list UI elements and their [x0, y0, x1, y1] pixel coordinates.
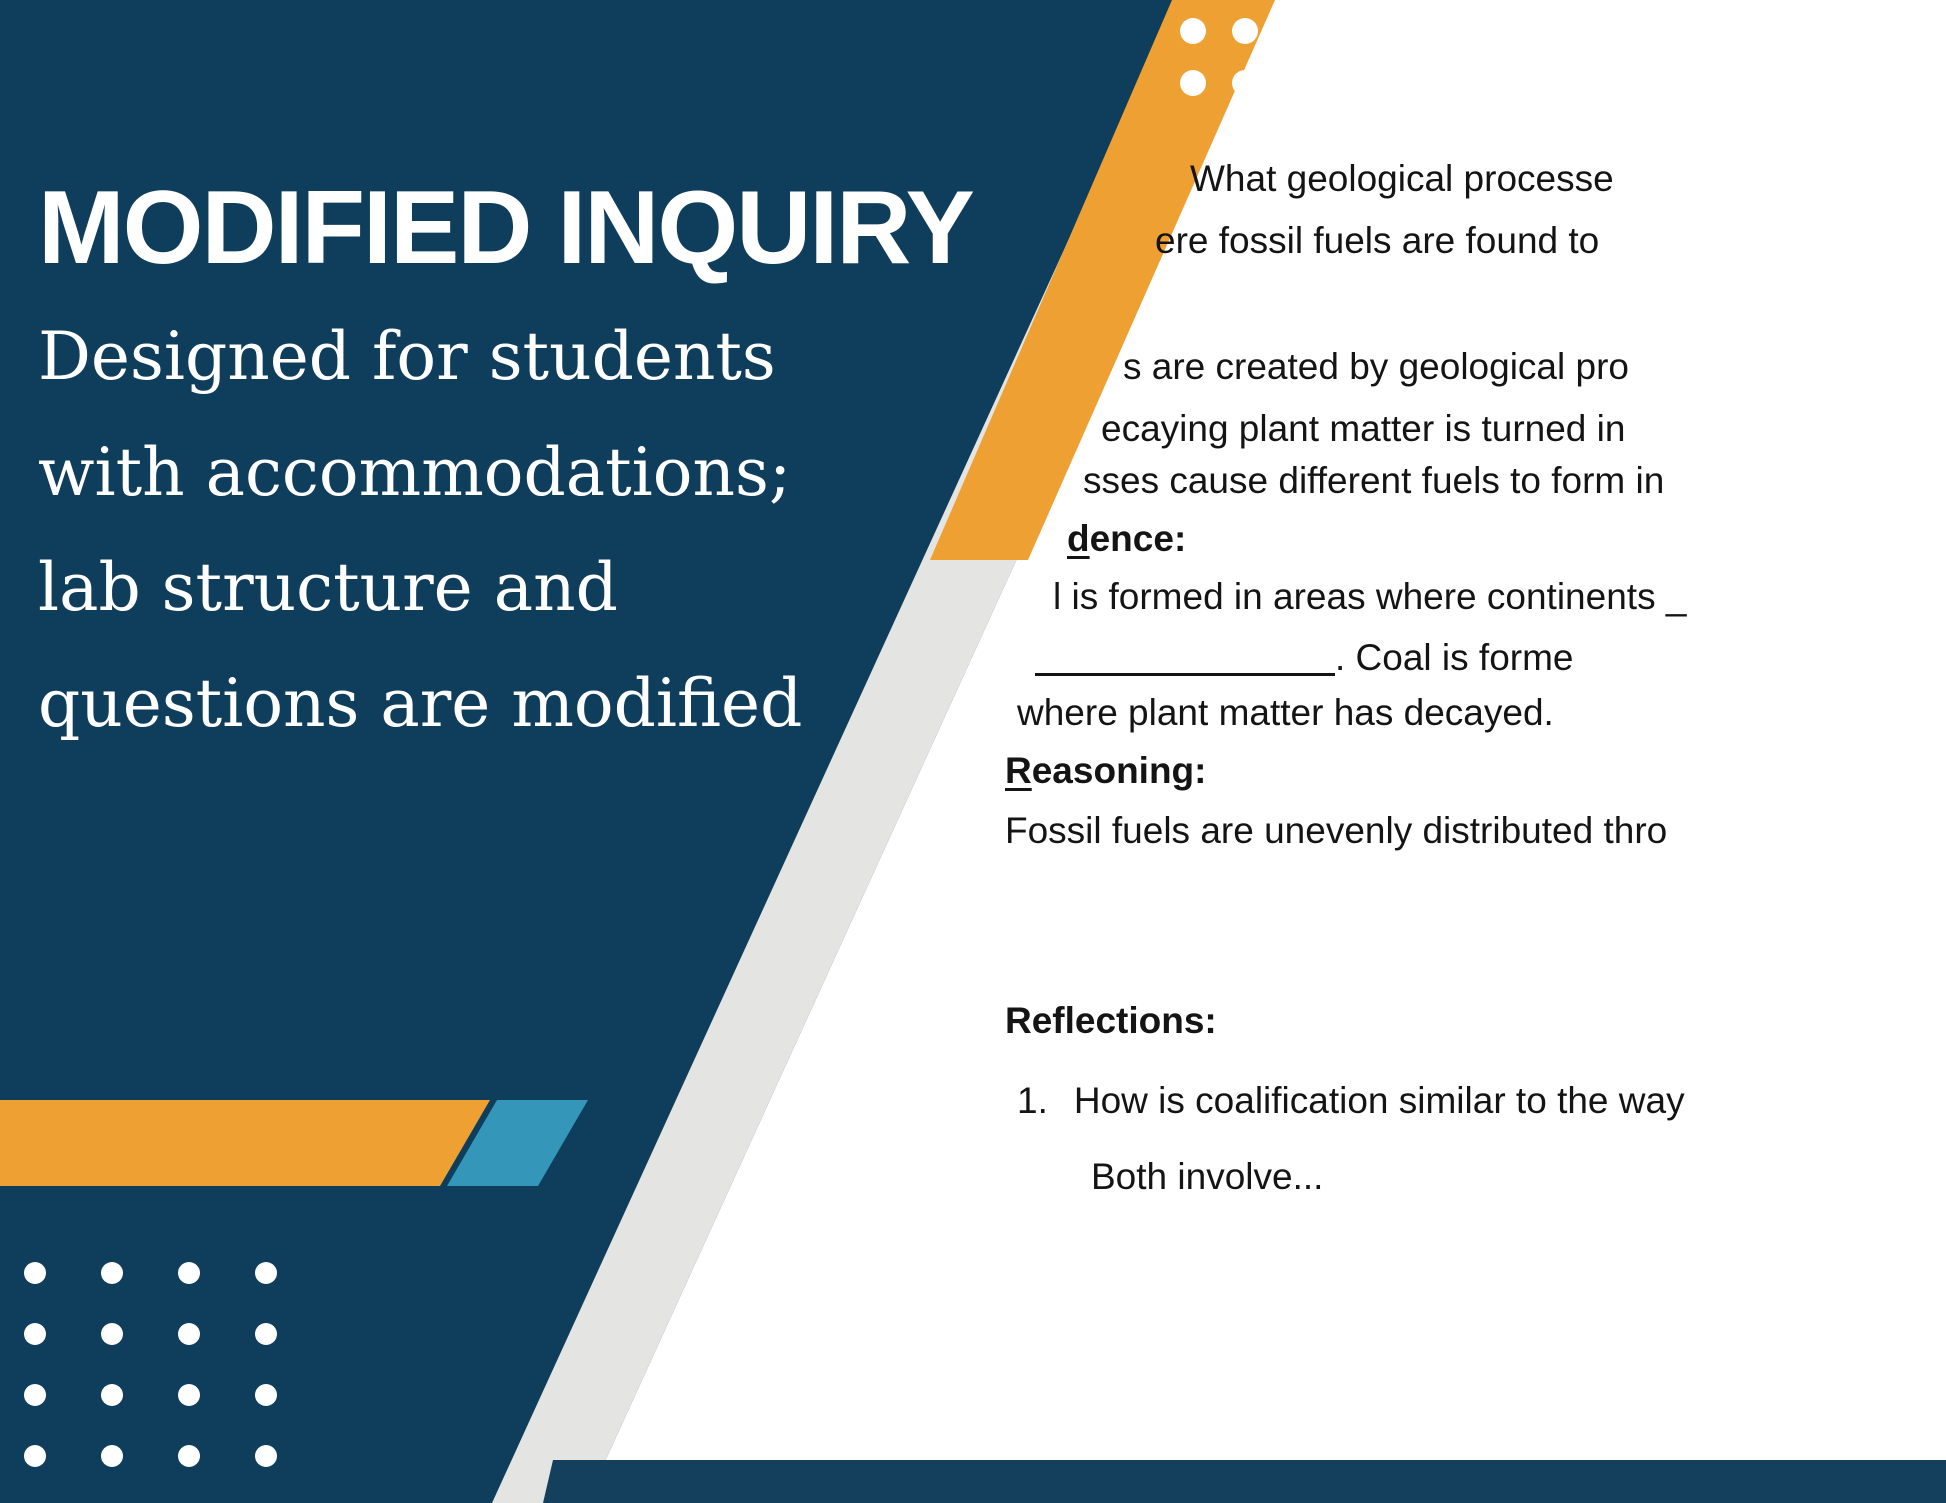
dot	[178, 1323, 200, 1345]
dot	[178, 1262, 200, 1284]
dot	[178, 1384, 200, 1406]
dot	[24, 1384, 46, 1406]
doc-line-h3: Reflections:	[1005, 1002, 1217, 1039]
underlined-initial: R	[1005, 750, 1032, 791]
doc-line-n1: 1.How is coalification similar to the wa…	[1017, 1082, 1685, 1119]
heading-rest: ence:	[1090, 518, 1187, 559]
dot	[101, 1323, 123, 1345]
doc-line-q1b: ere fossil fuels are found to	[1155, 222, 1599, 259]
doc-line-r1: Fossil fuels are unevenly distributed th…	[1005, 812, 1667, 849]
doc-text: How is coalification similar to the way	[1074, 1080, 1685, 1121]
doc-line-h2: Reasoning:	[1005, 752, 1206, 789]
page-subtitle: Designed for students with accommodation…	[38, 299, 868, 761]
dot	[255, 1384, 277, 1406]
heading-rest: easoning:	[1032, 750, 1207, 791]
dot	[255, 1323, 277, 1345]
dot	[101, 1445, 123, 1467]
doc-line-q1a: What geological processe	[1190, 160, 1614, 197]
doc-line-e3: where plant matter has decayed.	[1017, 694, 1554, 731]
fill-in-blank[interactable]	[1035, 636, 1335, 676]
doc-line-c1: s are created by geological pro	[1123, 348, 1629, 385]
doc-line-h1: dence:	[1067, 520, 1186, 557]
doc-line-c2: ecaying plant matter is turned in	[1101, 410, 1625, 447]
title-block: MODIFIED INQUIRY Designed for students w…	[38, 175, 1038, 761]
page-title: MODIFIED INQUIRY	[38, 175, 1038, 281]
doc-line-e2: . Coal is forme	[1035, 636, 1574, 676]
dot	[24, 1445, 46, 1467]
doc-text: . Coal is forme	[1335, 637, 1574, 678]
dot	[255, 1445, 277, 1467]
underlined-initial: d	[1067, 518, 1090, 559]
dot	[101, 1262, 123, 1284]
dot	[24, 1262, 46, 1284]
dot	[24, 1323, 46, 1345]
dot	[178, 1445, 200, 1467]
slide-canvas: MODIFIED INQUIRY Designed for students w…	[0, 0, 1946, 1503]
list-number: 1.	[1017, 1080, 1048, 1121]
doc-line-c3: sses cause different fuels to form in	[1083, 462, 1664, 499]
doc-line-n1a: Both involve...	[1091, 1158, 1323, 1195]
worksheet-document: What geological processeere fossil fuels…	[905, 0, 1946, 1503]
doc-line-e1: l is formed in areas where continents _	[1053, 578, 1686, 615]
dot	[255, 1262, 277, 1284]
dot-grid-bottom-left	[24, 1262, 332, 1503]
dot	[101, 1384, 123, 1406]
orange-accent-bar	[0, 1100, 490, 1186]
